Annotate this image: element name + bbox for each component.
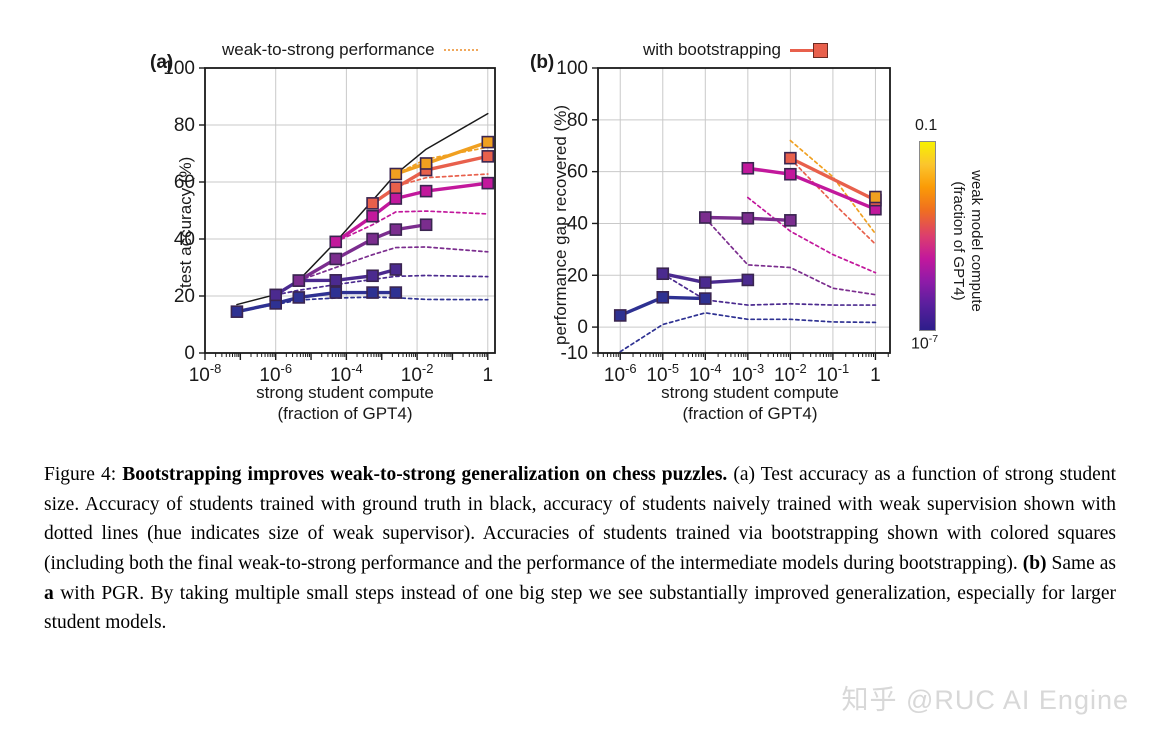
svg-text:10-2: 10-2 [774,361,807,386]
svg-text:40: 40 [567,213,588,234]
colorbar-title-line2: (fraction of GPT4) [949,170,967,312]
svg-text:10-3: 10-3 [732,361,765,386]
svg-text:10-4: 10-4 [689,361,722,386]
svg-text:10-1: 10-1 [817,361,850,386]
caption-body-2: Same as [1047,553,1116,574]
svg-text:1: 1 [870,365,881,386]
colorbar-gradient [919,141,936,331]
svg-text:0: 0 [184,343,195,364]
colorbar-bottom-label: 10-7 [911,333,938,353]
colorbar: 0.1 10-7 weak model compute (fraction of… [919,141,936,331]
svg-text:1: 1 [482,365,493,386]
svg-text:0: 0 [577,317,588,338]
colorbar-title: weak model compute (fraction of GPT4) [949,170,985,312]
svg-text:60: 60 [567,162,588,183]
svg-text:40: 40 [174,229,195,250]
panel-a-plot: 02040608010010-810-610-410-21 [0,0,520,400]
svg-text:100: 100 [163,58,195,79]
figure-area: (a) weak-to-strong performance chess boo… [0,0,1159,440]
svg-text:10-5: 10-5 [646,361,679,386]
panel-a-xlabel-line2: (fraction of GPT4) [200,404,490,425]
svg-text:10-6: 10-6 [604,361,637,386]
caption-body-3: with PGR. By taking multiple small steps… [44,583,1116,634]
svg-text:80: 80 [567,110,588,131]
svg-text:60: 60 [174,172,195,193]
panel-b-xlabel-line2: (fraction of GPT4) [605,404,895,425]
svg-text:-10: -10 [561,343,588,364]
colorbar-top-label: 0.1 [915,117,937,135]
svg-text:20: 20 [567,265,588,286]
figure-caption: Figure 4: Bootstrapping improves weak-to… [44,460,1116,638]
svg-text:20: 20 [174,286,195,307]
svg-text:10-2: 10-2 [401,361,434,386]
figure-page: (a) weak-to-strong performance chess boo… [0,0,1159,739]
watermark: 知乎 @RUC AI Engine [841,678,1129,717]
svg-text:100: 100 [556,58,588,79]
svg-text:80: 80 [174,115,195,136]
caption-bold-a: a [44,583,54,604]
svg-text:10-6: 10-6 [259,361,292,386]
svg-text:10-4: 10-4 [330,361,363,386]
svg-text:10-8: 10-8 [189,361,222,386]
caption-bold-b: (b) [1023,553,1047,574]
colorbar-title-line1: weak model compute [967,170,985,312]
caption-prefix: Figure 4: [44,464,122,485]
caption-bold-title: Bootstrapping improves weak-to-strong ge… [122,464,727,485]
